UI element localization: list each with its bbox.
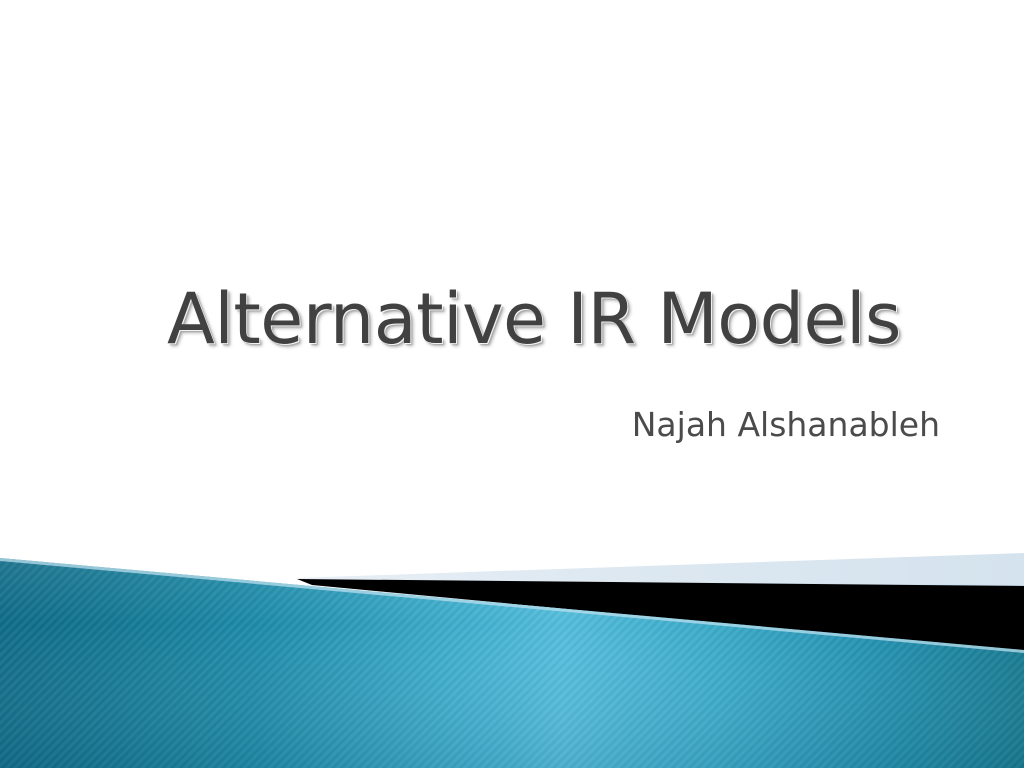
teal-wedge-texture (0, 540, 1024, 768)
subtitle-placeholder: Najah Alshanableh (128, 404, 940, 445)
teal-wedge (0, 558, 1024, 768)
slide-subtitle: Najah Alshanableh (128, 404, 940, 445)
black-wedge (297, 579, 1024, 652)
teal-highlight-line (0, 558, 1024, 653)
pale-blue-band (296, 553, 1024, 586)
pale-band-edge (300, 580, 1024, 589)
page-title: Alternative IR Models (128, 282, 940, 356)
title-placeholder: Alternative IR Models (128, 282, 940, 356)
slide-decoration (0, 0, 1024, 768)
title-slide: Alternative IR Models Najah Alshanableh (0, 0, 1024, 768)
